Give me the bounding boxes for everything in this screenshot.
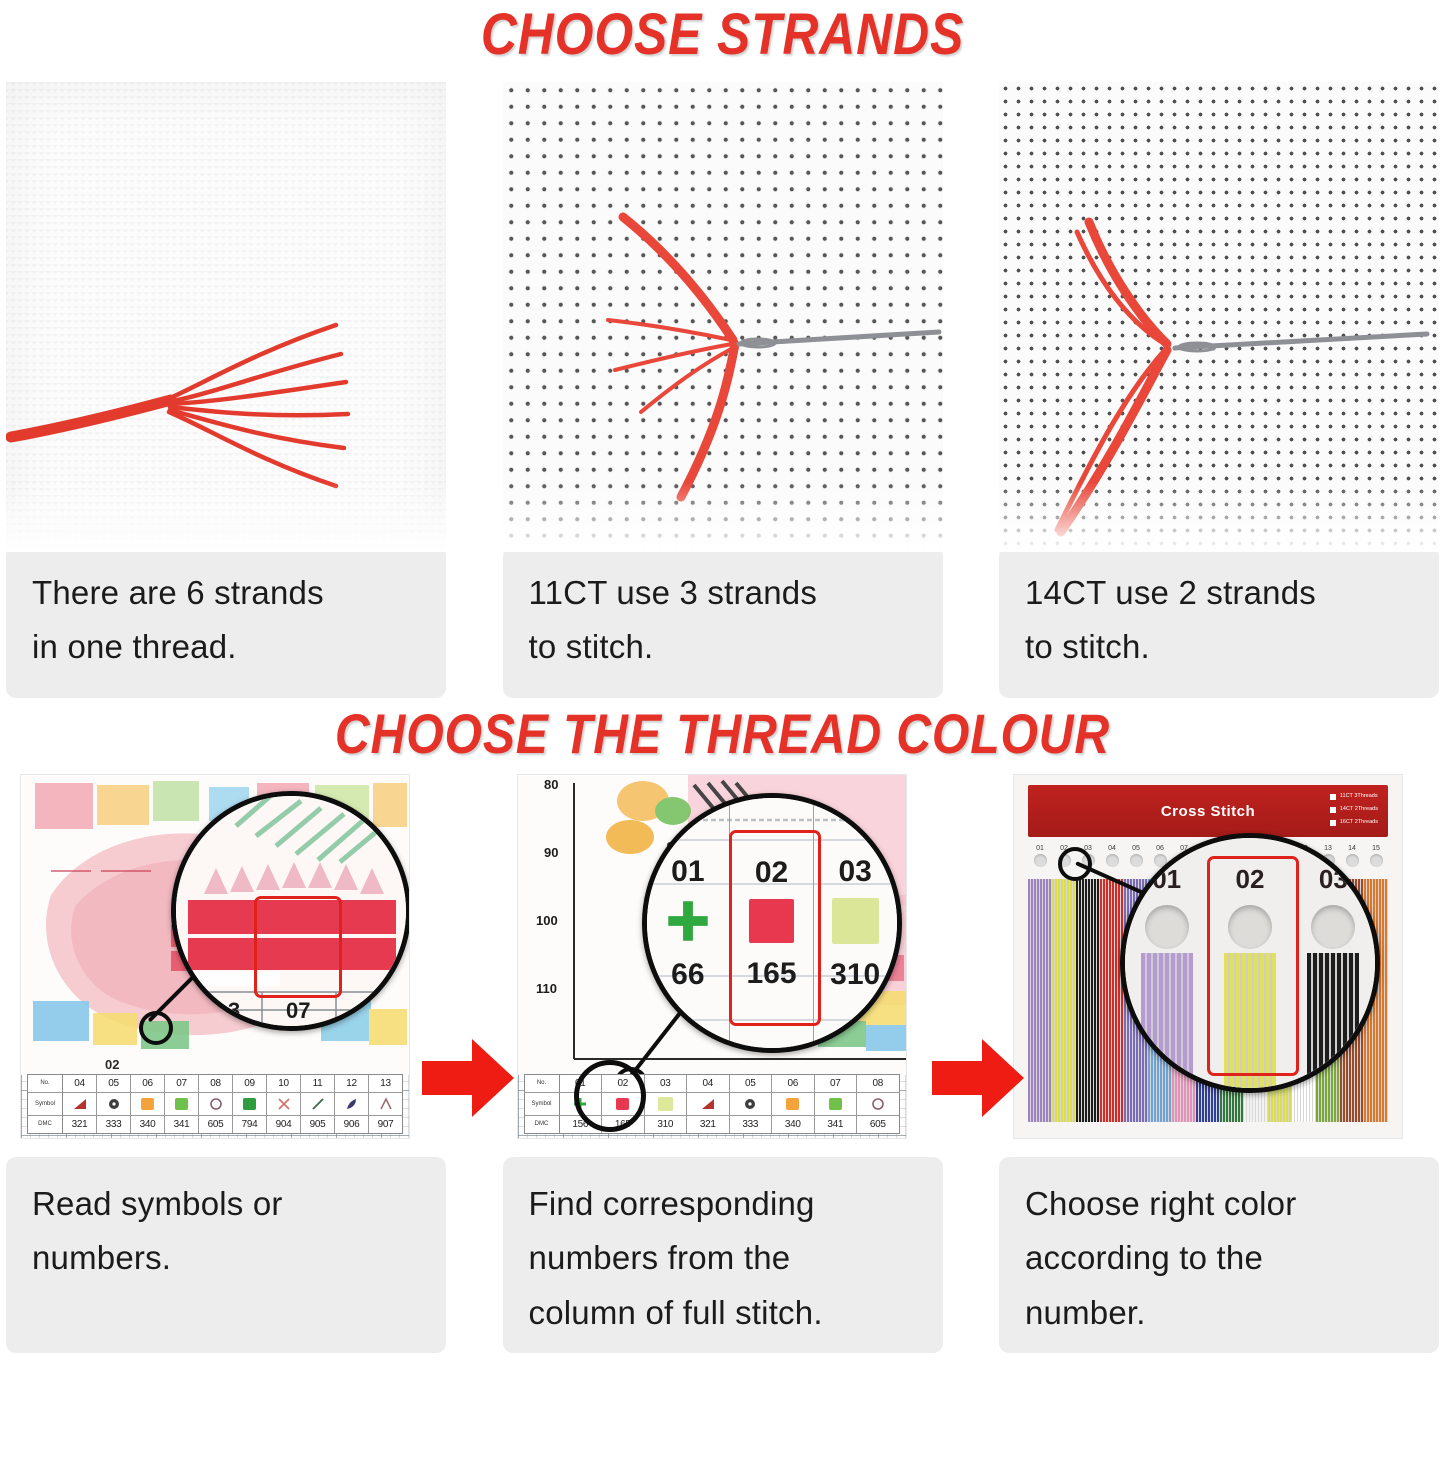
- legend-column-dmc: 907: [369, 1116, 402, 1133]
- legend-row-label-symbol: Symbol: [525, 1093, 559, 1116]
- legend-column-dmc: 904: [267, 1116, 300, 1133]
- thread-card-hole-number: 01: [1036, 845, 1044, 852]
- caption-line-1: 11CT use 3 strands: [529, 566, 917, 620]
- magnifier-highlight-box: [729, 830, 821, 1026]
- legend-column: 08605: [857, 1075, 899, 1133]
- legend-column-dmc: 333: [97, 1116, 130, 1133]
- legend-column-symbol: [233, 1093, 266, 1116]
- legend-column-number: 05: [730, 1075, 772, 1093]
- legend-column-number: 07: [165, 1075, 198, 1093]
- caption-line-2: numbers.: [32, 1231, 420, 1285]
- legend-column-symbol: [369, 1093, 402, 1116]
- caption-find-numbers: Find corresponding numbers from the colu…: [503, 1157, 943, 1353]
- legend-row-label-no: No.: [28, 1075, 62, 1093]
- legend-column-number: 07: [815, 1075, 857, 1093]
- magnifier-hole-number: 01: [1152, 864, 1181, 895]
- strands-card-6: There are 6 strands in one thread.: [6, 82, 446, 698]
- strands-row: There are 6 strands in one thread.: [0, 82, 1445, 698]
- caption-14ct: 14CT use 2 strands to stitch.: [999, 546, 1439, 698]
- photo-11ct: [503, 82, 943, 552]
- thread-skein: [1052, 879, 1076, 1122]
- legend-column-dmc: 905: [301, 1116, 334, 1133]
- magnifier-cell-dmc: 310: [830, 958, 880, 992]
- legend-column: 07341: [165, 1075, 199, 1133]
- caption-line-2: to stitch.: [529, 620, 917, 674]
- panel-thread-card: Cross Stitch 11CT 3Threads 14CT 2Threads: [1013, 774, 1403, 1139]
- magnifier-lens-columns: 01660216503310: [642, 793, 902, 1053]
- caption-read-symbols: Read symbols or numbers.: [6, 1157, 446, 1353]
- legend-column-symbol: [199, 1093, 232, 1116]
- legend-column-dmc: 310: [645, 1116, 687, 1133]
- checkbox-icon: [1330, 794, 1336, 800]
- photo-6-strands: [6, 82, 446, 552]
- legend-column-dmc: 906: [335, 1116, 368, 1133]
- thread-card-legend: 11CT 3Threads 14CT 2Threads 16CT 2Thread…: [1330, 791, 1378, 830]
- svg-text:07: 07: [286, 998, 310, 1023]
- legend-column-dmc: 605: [199, 1116, 232, 1133]
- legend-column: 06340: [131, 1075, 165, 1133]
- magnifier-highlight-box: [1207, 856, 1299, 1076]
- legend-item-label: 11CT 3Threads: [1340, 791, 1378, 802]
- panel-pattern-chart: 3 07 02 No. Symbol DMC 04321053330634007…: [20, 774, 410, 1139]
- legend-column-number: 10: [267, 1075, 300, 1093]
- legend-columns: 0432105333063400734108605097941090411905…: [63, 1075, 402, 1133]
- thread-skein: [1028, 879, 1052, 1122]
- hole-icon: [1145, 905, 1189, 949]
- magnifier-lens-holes: 010203: [1120, 833, 1380, 1093]
- svg-text:100: 100: [536, 913, 558, 928]
- magnifier-cell-dmc: 66: [671, 958, 704, 992]
- legend-column: 10904: [267, 1075, 301, 1133]
- thread-skein: [1141, 953, 1193, 1088]
- panel-chart-columns: 80 90 100 110: [517, 774, 907, 1139]
- colour-card-find-numbers: 80 90 100 110: [503, 774, 943, 1353]
- thread-skein: [1100, 879, 1124, 1122]
- legend-column-number: 06: [772, 1075, 814, 1093]
- photo-bottom-fade: [999, 482, 1439, 552]
- symbol-legend-table-1: No. Symbol DMC 0432105333063400734108605…: [27, 1074, 403, 1134]
- legend-column: 05333: [730, 1075, 773, 1133]
- legend-column-dmc: 340: [772, 1116, 814, 1133]
- legend-column-dmc: 321: [687, 1116, 729, 1133]
- legend-column-number: 08: [199, 1075, 232, 1093]
- legend-column-dmc: 333: [730, 1116, 772, 1133]
- legend-column: 12906: [335, 1075, 369, 1133]
- legend-column-symbol: [815, 1093, 857, 1116]
- legend-column-number: 12: [335, 1075, 368, 1093]
- legend-row-label-no: No.: [525, 1075, 559, 1093]
- caption-11ct: 11CT use 3 strands to stitch.: [503, 546, 943, 698]
- thread-card-banner: Cross Stitch 11CT 3Threads 14CT 2Threads: [1028, 785, 1388, 837]
- caption-line-2: to stitch.: [1025, 620, 1413, 674]
- legend-column-number: 05: [97, 1075, 130, 1093]
- legend-column: 08605: [199, 1075, 233, 1133]
- magnifier-cell-number: 01: [671, 855, 704, 889]
- magnifier-cell: 0166: [647, 798, 731, 1048]
- legend-column-symbol: [63, 1093, 96, 1116]
- legend-column-dmc: 340: [131, 1116, 164, 1133]
- legend-item-11ct: 11CT 3Threads: [1330, 791, 1378, 802]
- strands-card-11ct: 11CT use 3 strands to stitch.: [503, 82, 943, 698]
- svg-text:80: 80: [544, 777, 558, 792]
- hole-icon: [1311, 905, 1355, 949]
- caption-line-2: numbers from the: [529, 1231, 917, 1285]
- caption-line-2: in one thread.: [32, 620, 420, 674]
- colour-card-choose-color: Cross Stitch 11CT 3Threads 14CT 2Threads: [999, 774, 1439, 1353]
- colour-row: 3 07 02 No. Symbol DMC 04321053330634007…: [0, 774, 1445, 1353]
- legend-column-dmc: 794: [233, 1116, 266, 1133]
- checkbox-icon: [1330, 820, 1336, 826]
- magnifier-highlight-box: [254, 896, 342, 998]
- legend-column-number: 06: [131, 1075, 164, 1093]
- legend-column: 04321: [63, 1075, 97, 1133]
- legend-column-symbol: [335, 1093, 368, 1116]
- magnifier-hole-cell: 03: [1292, 838, 1375, 1088]
- thread-skein: [1076, 879, 1100, 1122]
- legend-column: 04321: [687, 1075, 730, 1133]
- legend-row-label-symbol: Symbol: [28, 1093, 62, 1116]
- legend-highlight-circle: [574, 1060, 646, 1132]
- caption-line-1: Read symbols or: [32, 1177, 420, 1231]
- legend-column-number: 11: [301, 1075, 334, 1093]
- legend-column-number: 04: [63, 1075, 96, 1093]
- legend-column-symbol: [857, 1093, 899, 1116]
- thread-card-hole: 01: [1028, 845, 1052, 883]
- legend-row-labels: No. Symbol DMC: [525, 1075, 560, 1133]
- magnifier-cell-symbol: [665, 898, 711, 949]
- caption-line-1: Find corresponding: [529, 1177, 917, 1231]
- magnifier-cell-symbol: [832, 898, 879, 949]
- photo-bottom-fade: [503, 482, 943, 552]
- magnifier-hole-number: 03: [1319, 864, 1348, 895]
- strands-card-14ct: 14CT use 2 strands to stitch.: [999, 82, 1439, 698]
- page-title-choose-thread-colour: CHOOSE THE THREAD COLOUR: [101, 706, 1344, 768]
- legend-column-symbol: [645, 1093, 687, 1116]
- legend-column: 03310: [645, 1075, 688, 1133]
- legend-column-number: 09: [233, 1075, 266, 1093]
- legend-row-labels: No. Symbol DMC: [28, 1075, 63, 1133]
- legend-column: 05333: [97, 1075, 131, 1133]
- legend-column: 07341: [815, 1075, 858, 1133]
- legend-row-label-dmc: DMC: [28, 1116, 62, 1133]
- legend-column-symbol: [267, 1093, 300, 1116]
- legend-column-symbol: [301, 1093, 334, 1116]
- legend-column-number: 03: [645, 1075, 687, 1093]
- caption-line-3: number.: [1025, 1286, 1413, 1340]
- legend-column-symbol: [730, 1093, 772, 1116]
- legend-column-number: 04: [687, 1075, 729, 1093]
- page-title-choose-strands: CHOOSE STRANDS: [101, 0, 1344, 70]
- thread-card-title: Cross Stitch: [1161, 803, 1255, 820]
- magnifier-cell: 03310: [814, 798, 897, 1048]
- colour-card-read-symbols: 3 07 02 No. Symbol DMC 04321053330634007…: [6, 774, 446, 1353]
- legend-column-dmc: 341: [815, 1116, 857, 1133]
- caption-line-2: according to the: [1025, 1231, 1413, 1285]
- photo-bottom-fade: [6, 482, 446, 552]
- legend-column-symbol: [131, 1093, 164, 1116]
- photo-14ct: [999, 82, 1439, 552]
- caption-line-1: Choose right color: [1025, 1177, 1413, 1231]
- legend-row-label-dmc: DMC: [525, 1116, 559, 1133]
- legend-column: 06340: [772, 1075, 815, 1133]
- checkbox-icon: [1330, 807, 1336, 813]
- magnifier-hole-cell: 01: [1125, 838, 1208, 1088]
- caption-line-1: 14CT use 2 strands: [1025, 566, 1413, 620]
- legend-item-16ct: 16CT 2Threads: [1330, 817, 1378, 828]
- legend-column-number: 08: [857, 1075, 899, 1093]
- legend-item-14ct: 14CT 2Threads: [1330, 804, 1378, 815]
- legend-column-symbol: [97, 1093, 130, 1116]
- svg-text:90: 90: [544, 845, 558, 860]
- legend-column-dmc: 605: [857, 1116, 899, 1133]
- caption-line-1: There are 6 strands: [32, 566, 420, 620]
- magnifier-lens-pattern: 3 07: [171, 791, 410, 1031]
- hole-icon: [1106, 854, 1119, 867]
- legend-item-label: 16CT 2Threads: [1340, 817, 1378, 828]
- legend-column-dmc: 341: [165, 1116, 198, 1133]
- legend-column: 13907: [369, 1075, 402, 1133]
- arrow-right-icon-2: [930, 1035, 1026, 1121]
- thread-skein: [1307, 953, 1359, 1088]
- legend-column-number: 13: [369, 1075, 402, 1093]
- caption-line-3: column of full stitch.: [529, 1286, 917, 1340]
- legend-column-symbol: [165, 1093, 198, 1116]
- legend-column: 11905: [301, 1075, 335, 1133]
- svg-text:3: 3: [228, 998, 240, 1023]
- legend-column-dmc: 321: [63, 1116, 96, 1133]
- arrow-right-icon-1: [420, 1035, 516, 1121]
- thread-card-hole-number: 04: [1108, 845, 1116, 852]
- legend-column-symbol: [772, 1093, 814, 1116]
- chart-cell-label: 02: [105, 1057, 119, 1072]
- caption-6-strands: There are 6 strands in one thread.: [6, 546, 446, 698]
- legend-column: 09794: [233, 1075, 267, 1133]
- legend-column-symbol: [687, 1093, 729, 1116]
- magnifier-cell-number: 03: [838, 855, 871, 889]
- hole-icon: [1034, 854, 1047, 867]
- svg-text:110: 110: [536, 981, 557, 996]
- legend-item-label: 14CT 2Threads: [1340, 804, 1378, 815]
- caption-choose-color: Choose right color according to the numb…: [999, 1157, 1439, 1353]
